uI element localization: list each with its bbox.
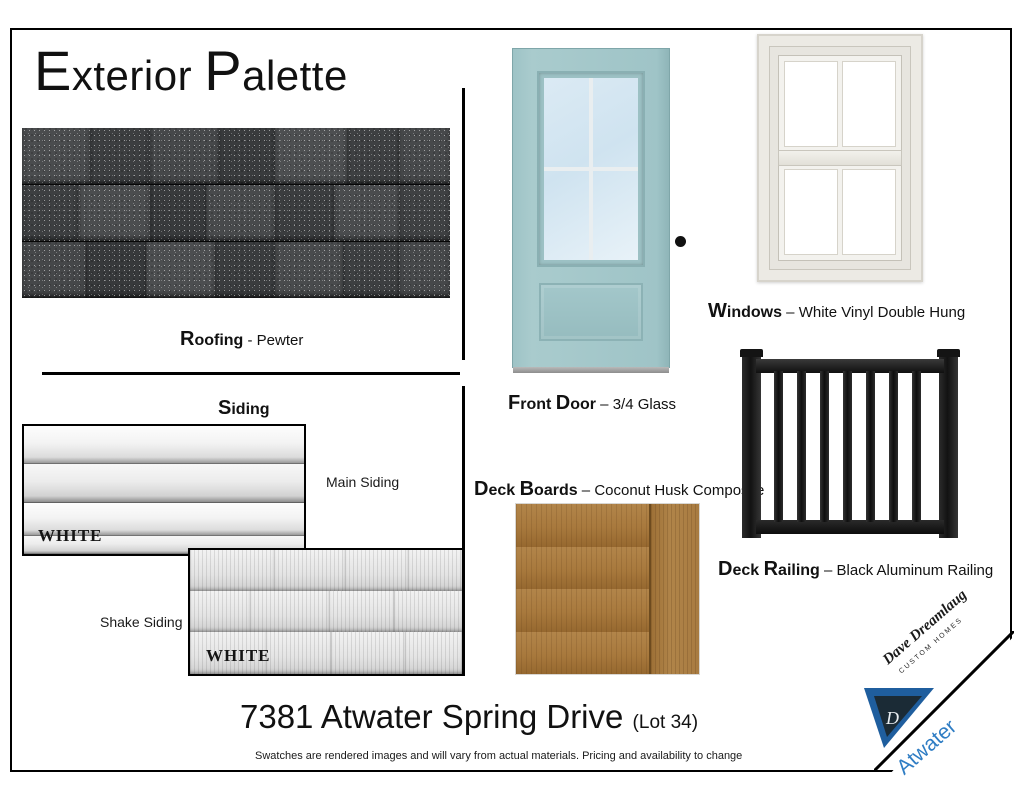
deck-board-side-plank	[649, 504, 699, 674]
address-title: 7381 Atwater Spring Drive (Lot 34)	[240, 698, 698, 736]
front-door-cap-d: D	[556, 392, 570, 414]
front-door-separator: –	[596, 396, 613, 413]
window-swatch	[757, 34, 923, 282]
deck-boards-swatch	[515, 503, 700, 675]
window-inner-frame	[769, 46, 911, 270]
divider-horizontal	[42, 372, 460, 375]
exterior-palette-sheet: Exterior Palette	[0, 0, 1024, 791]
door-glass	[544, 78, 638, 260]
shake-siding-caption: Shake Siding	[100, 614, 183, 630]
door-sill	[513, 367, 669, 373]
deck-boards-value: Coconut Husk Composite	[594, 482, 764, 499]
window-pane-top-right	[842, 61, 896, 147]
door-slab	[512, 48, 670, 368]
deck-railing-cap-d: D	[718, 558, 732, 580]
window-pane-bottom-right	[842, 169, 896, 255]
deck-railing-rest-eck: eck	[732, 562, 763, 579]
main-siding-swatch: WHITE	[22, 424, 306, 556]
svg-text:D: D	[885, 708, 899, 728]
door-bottom-panel	[539, 283, 643, 341]
railing-post-left	[742, 349, 761, 538]
windows-value: White Vinyl Double Hung	[799, 304, 965, 321]
page-title-cap-e: E	[34, 39, 72, 102]
deck-railing-rest-ailing: ailing	[778, 562, 820, 579]
railing-baluster	[797, 371, 806, 522]
page-title-cap-p: P	[204, 39, 242, 102]
deck-railing-swatch	[742, 349, 958, 538]
deck-boards-caption: Deck Boards – Coconut Husk Composite	[474, 478, 764, 501]
window-pane-top-left	[784, 61, 838, 147]
siding-label: iding	[231, 401, 269, 418]
front-door-value: 3/4 Glass	[613, 396, 676, 413]
deck-boards-cap-d: D	[474, 478, 488, 500]
roofing-caption: Roofing - Pewter	[180, 328, 303, 351]
roofing-shingle-swatch	[22, 128, 450, 298]
disclaimer-text: Swatches are rendered images and will va…	[255, 750, 742, 762]
windows-label: indows	[727, 304, 782, 321]
address-street: 7381 Atwater Spring Drive	[240, 698, 623, 735]
front-door-caption: Front Door – 3/4 Glass	[508, 392, 676, 415]
divider-vertical-top	[462, 88, 465, 360]
main-siding-color-text: WHITE	[38, 526, 103, 546]
railing-bottom-rail	[756, 520, 944, 534]
railing-post-cap-left	[740, 349, 763, 357]
window-pane-bottom-left	[784, 169, 838, 255]
siding-cap: S	[218, 397, 231, 419]
deck-boards-rest-eck: eck	[488, 482, 519, 499]
railing-post-right	[939, 349, 958, 538]
window-meeting-rail	[778, 150, 902, 166]
windows-caption: Windows – White Vinyl Double Hung	[708, 300, 965, 323]
roofing-value: Pewter	[257, 332, 304, 349]
windows-separator: –	[782, 304, 799, 321]
page-title-rest-palette: alette	[242, 52, 348, 99]
railing-baluster	[820, 371, 829, 522]
door-glass-frame	[537, 71, 645, 267]
front-door-swatch	[512, 48, 670, 368]
siding-heading: Siding	[218, 397, 270, 420]
deck-boards-separator: –	[578, 482, 595, 499]
window-sash-bottom	[778, 163, 902, 261]
deck-railing-caption: Deck Railing – Black Aluminum Railing	[718, 558, 993, 581]
front-door-rest-oor: oor	[570, 396, 596, 413]
railing-baluster	[843, 371, 852, 522]
roofing-granule-texture	[22, 128, 450, 298]
roofing-cap: R	[180, 328, 194, 350]
roofing-separator: -	[243, 332, 256, 349]
railing-baluster	[866, 371, 875, 522]
shake-siding-swatch: WHITE	[188, 548, 464, 676]
railing-baluster	[912, 371, 921, 522]
railing-post-cap-right	[937, 349, 960, 357]
address-lot: (Lot 34)	[633, 712, 698, 733]
windows-cap: W	[708, 300, 727, 322]
deck-boards-cap-b: B	[520, 478, 534, 500]
shake-siding-color-text: WHITE	[206, 646, 271, 666]
railing-baluster	[889, 371, 898, 522]
window-sash-top	[778, 55, 902, 153]
page-title-rest-exterior: xterior	[72, 52, 192, 99]
main-siding-caption: Main Siding	[326, 474, 399, 490]
page-title: Exterior Palette	[34, 44, 348, 103]
deck-railing-value: Black Aluminum Railing	[837, 562, 994, 579]
window-frame	[757, 34, 923, 282]
deck-railing-cap-r: R	[764, 558, 778, 580]
door-mullion-horizontal	[544, 167, 638, 171]
deck-boards-rest-oards: oards	[534, 482, 578, 499]
deck-railing-separator: –	[820, 562, 837, 579]
door-knob-icon	[675, 236, 686, 247]
railing-baluster	[774, 371, 783, 522]
front-door-cap-f: F	[508, 392, 520, 414]
builder-logo: D Dave Dreamlaug CUSTOM HOMES Atwater	[852, 660, 1022, 775]
front-door-rest-ront: ront	[520, 396, 556, 413]
roofing-label: oofing	[194, 332, 243, 349]
